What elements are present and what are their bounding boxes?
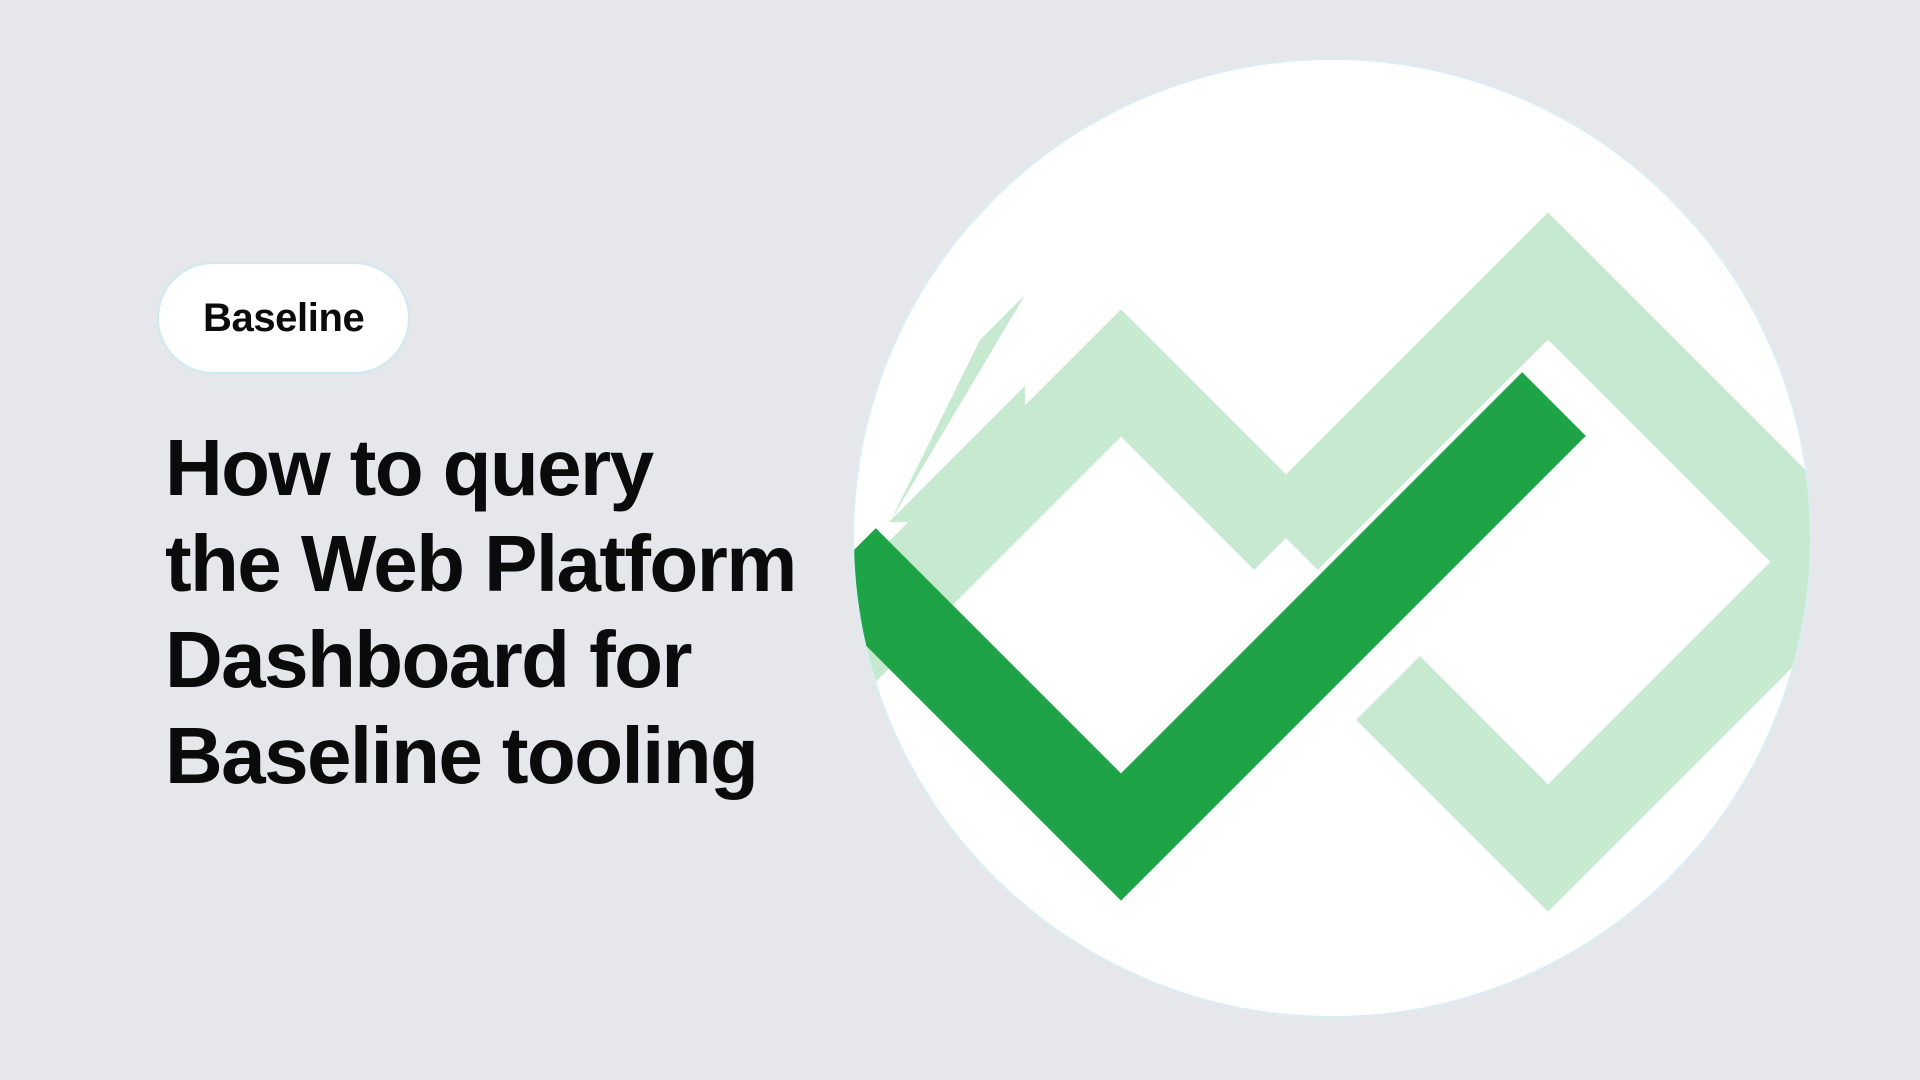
baseline-badge-label: Baseline xyxy=(203,298,364,338)
page-title: How to query the Web Platform Dashboard … xyxy=(165,420,845,804)
page-title-line-4: Baseline tooling xyxy=(165,708,845,804)
text-column: Baseline How to query the Web Platform D… xyxy=(165,0,825,1080)
baseline-logo-icon xyxy=(854,60,1812,1018)
baseline-logo-plate xyxy=(852,58,1812,1018)
page-title-line-3: Dashboard for xyxy=(165,612,845,708)
page-title-line-1: How to query xyxy=(165,420,845,516)
page-title-line-2: the Web Platform xyxy=(165,516,845,612)
cover-canvas: Baseline How to query the Web Platform D… xyxy=(0,0,1920,1080)
baseline-strokes xyxy=(854,276,1812,848)
light-right-lower-chevron xyxy=(1388,572,1812,848)
baseline-badge[interactable]: Baseline xyxy=(157,262,410,374)
